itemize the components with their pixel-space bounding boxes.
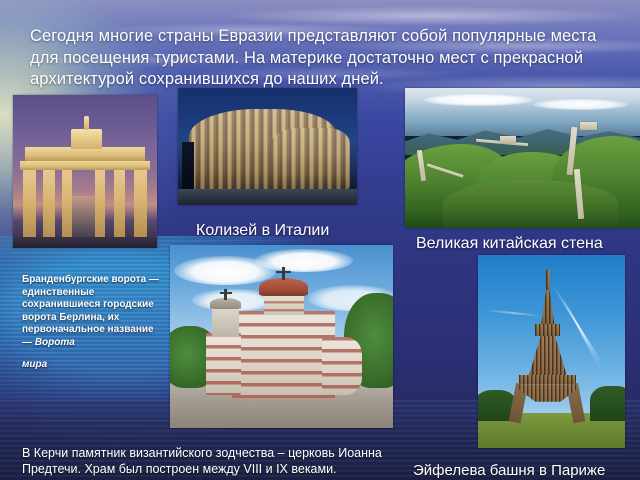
church-nave bbox=[232, 311, 335, 399]
brandenburg-gate-photo bbox=[13, 95, 157, 248]
caption-kerch-church: В Керчи памятник византийского зодчества… bbox=[22, 445, 422, 477]
colosseum-photo bbox=[178, 88, 357, 205]
church-apse bbox=[322, 337, 362, 396]
brandenburg-column bbox=[114, 170, 126, 239]
greatwall-watchtower bbox=[500, 136, 517, 143]
great-wall-photo bbox=[405, 88, 640, 228]
slide-heading: Сегодня многие страны Евразии представля… bbox=[30, 26, 616, 91]
church-belfry bbox=[212, 307, 239, 336]
church-cloud bbox=[255, 249, 353, 273]
caption-brandenburg-italic-name: Ворота bbox=[35, 337, 75, 348]
church-cross bbox=[276, 271, 292, 273]
eiffel-tower-photo bbox=[478, 255, 625, 448]
caption-eiffel-tower: Эйфелева башня в Париже bbox=[413, 461, 628, 480]
brandenburg-column bbox=[134, 170, 147, 239]
church-cross bbox=[282, 267, 285, 280]
brandenburg-cornice bbox=[20, 161, 150, 170]
colosseum-outer-ring bbox=[271, 128, 350, 189]
church-west-wing bbox=[206, 333, 242, 395]
caption-great-wall: Великая китайская стена bbox=[416, 234, 606, 254]
brandenburg-ground bbox=[13, 237, 157, 248]
church-belfry-cross bbox=[224, 289, 227, 300]
colosseum-foreground-tree bbox=[182, 142, 195, 189]
brandenburg-column bbox=[62, 170, 72, 239]
caption-colosseum: Колизей в Италии bbox=[196, 221, 329, 241]
greatwall-watchtower bbox=[580, 122, 597, 130]
colosseum-ground bbox=[178, 189, 357, 205]
brandenburg-column bbox=[43, 170, 55, 239]
eiffel-tree bbox=[590, 386, 625, 421]
church-belfry-cross bbox=[220, 292, 232, 294]
greatwall-hill bbox=[443, 180, 618, 228]
kerch-church-photo bbox=[170, 245, 393, 428]
greatwall-cloud bbox=[424, 94, 533, 107]
brandenburg-quadriga bbox=[71, 129, 103, 149]
caption-brandenburg-gate: Бранденбургские ворота — единственные со… bbox=[22, 274, 162, 371]
church-dome bbox=[259, 278, 308, 296]
brandenburg-entablature bbox=[25, 147, 146, 161]
eiffel-antenna bbox=[546, 270, 550, 289]
brandenburg-column bbox=[23, 170, 36, 239]
eiffel-second-platform bbox=[535, 324, 560, 336]
brandenburg-column bbox=[95, 170, 105, 239]
eiffel-first-platform bbox=[519, 375, 576, 385]
caption-brandenburg-tail: мира bbox=[22, 359, 162, 372]
brandenburg-victory-statue bbox=[84, 116, 90, 130]
presentation-slide: Сегодня многие страны Евразии представля… bbox=[0, 0, 640, 480]
